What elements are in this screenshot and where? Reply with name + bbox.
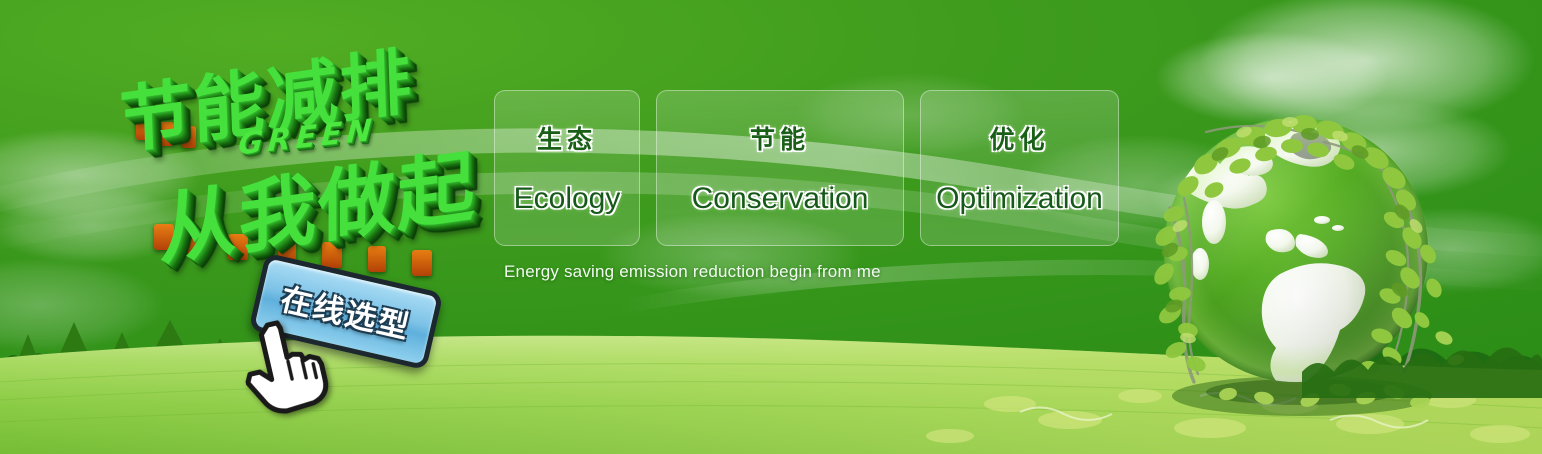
feature-card-en-label: Ecology — [514, 182, 621, 216]
feature-card-group: 生态 Ecology 节能 Conservation 优化 Optimizati… — [494, 90, 1119, 246]
tree-silhouette-icon — [1302, 318, 1542, 398]
banner-tagline: Energy saving emission reduction begin f… — [504, 262, 881, 282]
feature-card-conservation[interactable]: 节能 Conservation — [656, 90, 904, 246]
feature-card-cn-label: 节能 — [750, 120, 810, 156]
headline-3d: 节能减排 GREEN 从我做起 — [96, 34, 496, 264]
feature-card-optimization[interactable]: 优化 Optimization — [920, 90, 1119, 246]
feature-card-cn-label: 生态 — [537, 120, 597, 156]
feature-card-en-label: Conservation — [692, 182, 869, 216]
feature-card-ecology[interactable]: 生态 Ecology — [494, 90, 640, 246]
feature-card-en-label: Optimization — [936, 182, 1103, 216]
eco-promo-banner: 节能减排 GREEN 从我做起 在线选型 生态 Ecology 节能 Conse… — [0, 0, 1542, 454]
feature-card-cn-label: 优化 — [989, 120, 1049, 156]
